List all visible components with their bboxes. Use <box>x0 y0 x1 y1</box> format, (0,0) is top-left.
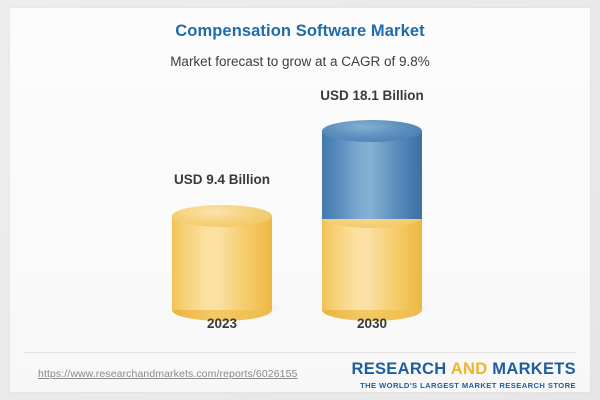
bar-body-2023 <box>172 216 272 310</box>
report-url-link[interactable]: https://www.researchandmarkets.com/repor… <box>38 368 297 380</box>
bar-value-label-2023: USD 9.4 Billion <box>142 172 302 187</box>
research-and-markets-logo[interactable]: RESEARCH AND MARKETS THE WORLD'S LARGEST… <box>351 360 576 390</box>
chart-card: Compensation Software Market Market fore… <box>10 8 590 392</box>
bar-top-cap-2030 <box>322 120 422 142</box>
bar-top-cap-2023 <box>172 205 272 227</box>
logo-tagline: THE WORLD'S LARGEST MARKET RESEARCH STOR… <box>351 381 576 390</box>
logo-word-and: AND <box>451 360 488 378</box>
bar-category-label-2023: 2023 <box>172 316 272 331</box>
logo-word-markets: MARKETS <box>487 360 576 378</box>
bar-category-label-2030: 2030 <box>322 316 422 331</box>
logo-wordmark: RESEARCH AND MARKETS <box>351 360 576 379</box>
image-frame: Compensation Software Market Market fore… <box>0 0 600 400</box>
bar-segment-base-2030 <box>322 217 422 310</box>
bar-segment-growth-2030 <box>322 131 422 219</box>
plot-area: USD 9.4 Billion 2023 USD 18.1 Billion <box>10 8 590 352</box>
bar-value-label-2030: USD 18.1 Billion <box>292 88 452 103</box>
footer-divider <box>24 352 576 353</box>
logo-word-research: RESEARCH <box>351 360 450 378</box>
